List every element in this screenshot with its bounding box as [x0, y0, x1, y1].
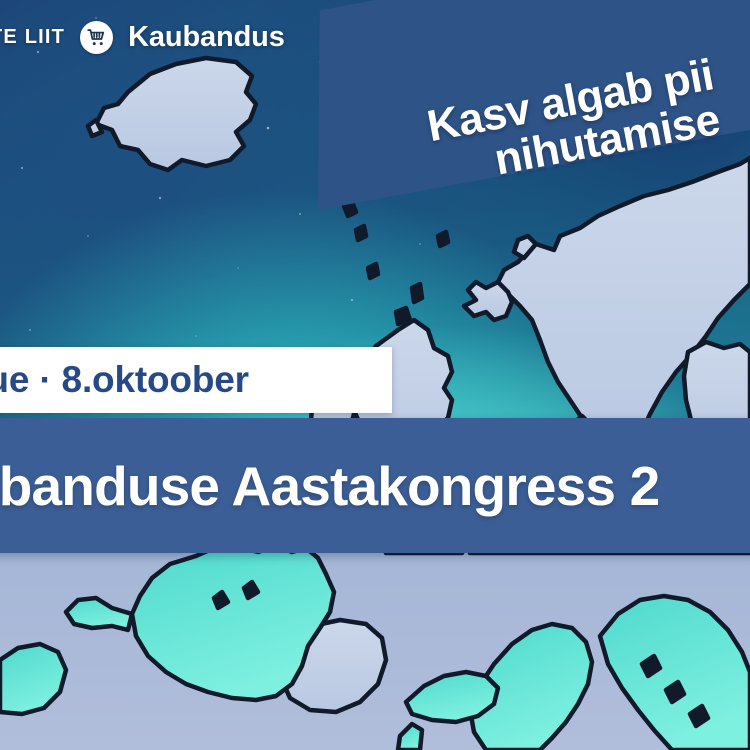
venue-date-text: nue · 8.oktoober — [0, 359, 249, 401]
event-title-text: ubanduse Aastakongress 2 — [0, 454, 659, 518]
venue-date-bar: nue · 8.oktoober — [0, 347, 392, 413]
event-title-bar: ubanduse Aastakongress 2 — [0, 418, 750, 553]
brand-label: Kaubandus — [128, 21, 285, 54]
event-poster: Kasv algab pii nihutamise PMEESTE LIIT K… — [0, 0, 750, 750]
union-label: PMEESTE LIIT — [0, 26, 65, 49]
logo-row[interactable]: PMEESTE LIIT Kaubandus — [0, 21, 285, 54]
shopping-cart-icon — [80, 21, 113, 54]
